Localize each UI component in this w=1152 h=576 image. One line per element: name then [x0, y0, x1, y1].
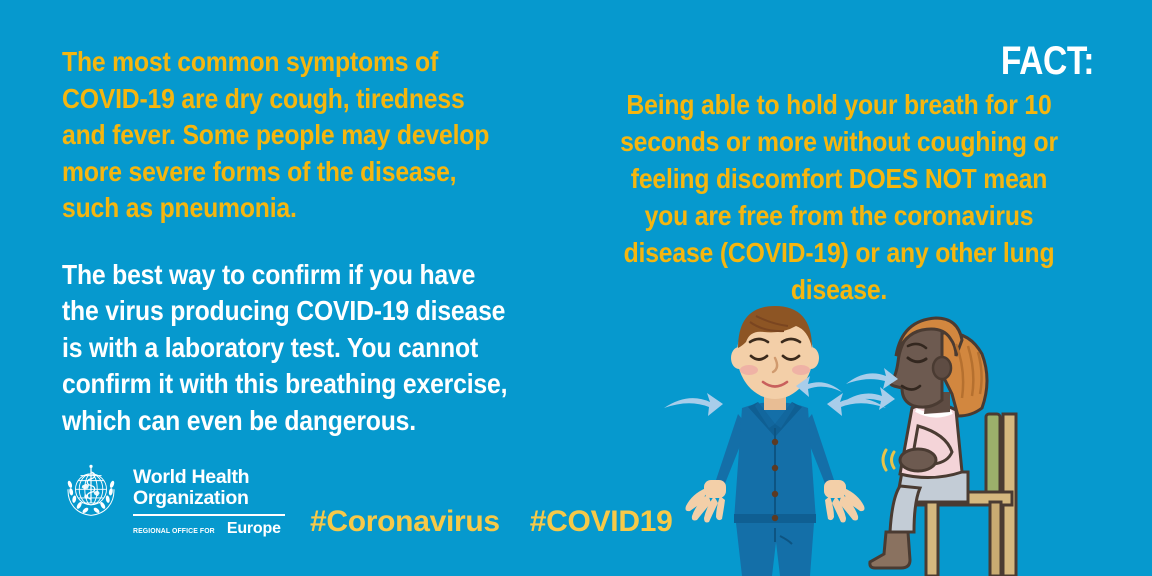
- who-wordmark: World Health Organization REGIONAL OFFIC…: [133, 462, 285, 538]
- fact-heading: FACT:: [666, 40, 1094, 82]
- hashtag-row: #Coronavirus #COVID19: [310, 505, 672, 539]
- who-logo: World Health Organization REGIONAL OFFIC…: [60, 462, 285, 538]
- who-divider-rule: [133, 514, 285, 516]
- standing-man-breathing: [664, 306, 886, 576]
- right-text-column: FACT: Being able to hold your breath for…: [584, 40, 1094, 308]
- hashtag-coronavirus[interactable]: #Coronavirus: [310, 505, 500, 539]
- who-region-line: REGIONAL OFFICE FOR Europe: [133, 520, 285, 538]
- who-region-name: Europe: [227, 520, 281, 538]
- fact-body-paragraph: Being able to hold your breath for 10 se…: [610, 86, 1069, 308]
- who-wordmark-line1: World Health: [133, 467, 285, 488]
- who-emblem-icon: [60, 462, 122, 524]
- confirmation-paragraph: The best way to confirm if you have the …: [62, 257, 512, 440]
- seated-woman-breathing: [838, 318, 1016, 576]
- who-wordmark-line2: Organization: [133, 488, 285, 509]
- who-region-prefix: REGIONAL OFFICE FOR: [133, 526, 215, 535]
- left-text-column: The most common symptoms of COVID-19 are…: [62, 44, 562, 439]
- symptoms-paragraph: The most common symptoms of COVID-19 are…: [62, 44, 512, 227]
- breathing-illustration: [650, 296, 1150, 576]
- illustration-group: [650, 296, 1150, 576]
- covid-fact-poster: The most common symptoms of COVID-19 are…: [0, 0, 1152, 576]
